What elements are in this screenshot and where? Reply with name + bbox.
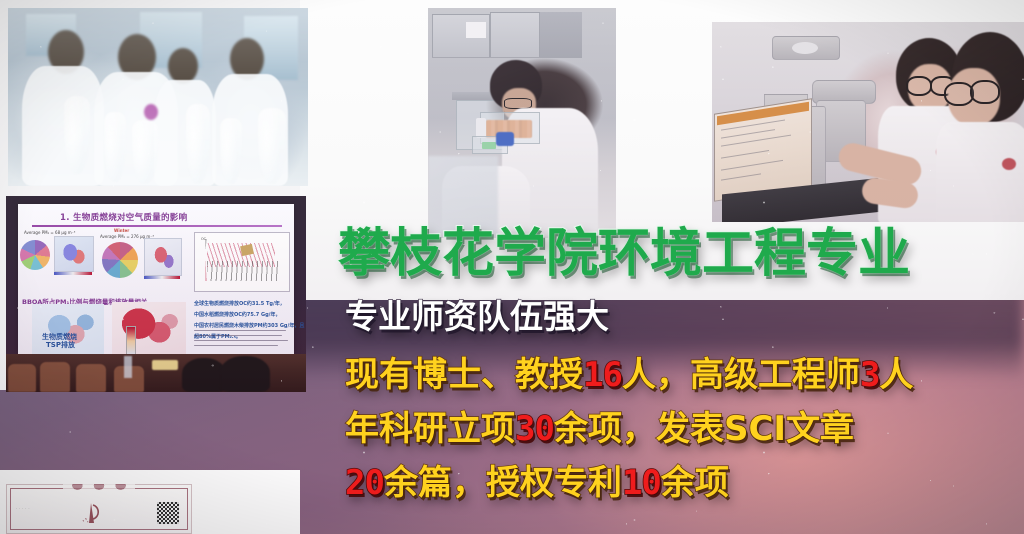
poster-canvas: 1. 生物质燃烧对空气质量的影响 Average PM₁ = 68 μg m⁻³… bbox=[0, 0, 1024, 534]
stat3-number-1: 20 bbox=[345, 463, 384, 503]
poster-stat-line-3: 20余篇，授权专利10余项 bbox=[345, 466, 729, 500]
stat3-number-2: 10 bbox=[622, 463, 661, 503]
stat1-number-2: 3 bbox=[860, 355, 879, 395]
poster-stat-line-2: 年科研立项30余项，发表SCI文章 bbox=[345, 412, 854, 446]
poster-stat-line-1: 现有博士、教授16人，高级工程师3人 bbox=[345, 358, 913, 392]
poster-subheading: 专业师资队伍强大 bbox=[345, 300, 609, 333]
stat3-text-b: 余篇，授权专利 bbox=[384, 463, 622, 503]
stat2-number-1: 30 bbox=[515, 409, 554, 449]
stat2-text-a: 年科研立项 bbox=[345, 409, 515, 449]
stat1-text-a: 现有博士、教授 bbox=[345, 355, 583, 395]
stat2-text-b: 余项，发表SCI文章 bbox=[554, 409, 854, 449]
stat1-text-c: 人 bbox=[879, 355, 913, 395]
stat3-text-c: 余项 bbox=[661, 463, 729, 503]
stat1-text-b: 人，高级工程师 bbox=[622, 355, 860, 395]
poster-title: 攀枝花学院环境工程专业 bbox=[338, 228, 910, 280]
stat1-number-1: 16 bbox=[583, 355, 622, 395]
